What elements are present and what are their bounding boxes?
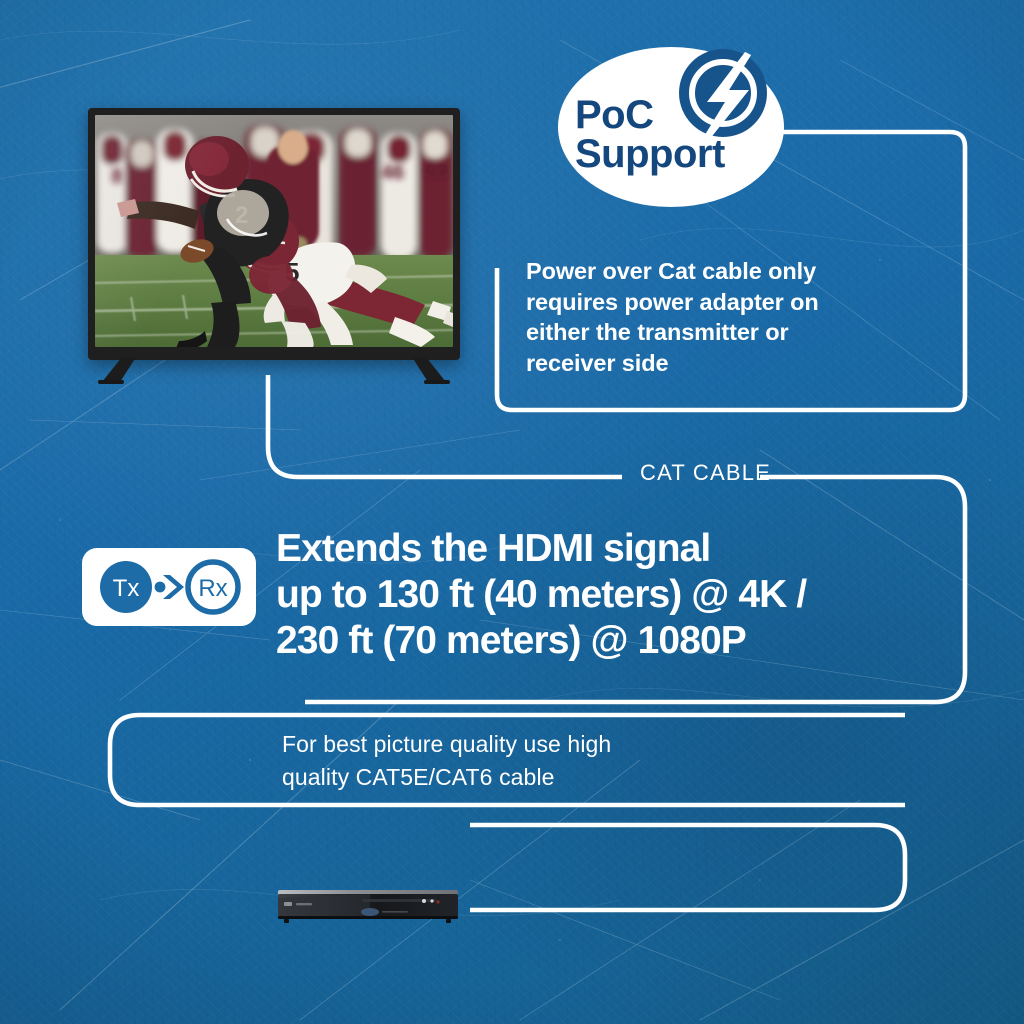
tv-bezel: 88 4668 bbox=[88, 108, 460, 360]
receiver-label: Rx bbox=[198, 575, 227, 602]
headline-line2: up to 130 ft (40 meters) @ 4K / bbox=[276, 572, 976, 618]
transmitter-label: Tx bbox=[113, 575, 140, 602]
blu-ray-player-device bbox=[278, 888, 458, 924]
football-tackle-photo: 88 4668 bbox=[95, 115, 453, 347]
poc-badge-line1: PoC bbox=[575, 96, 725, 135]
tx-rx-badge-shape: Tx Rx bbox=[82, 548, 256, 626]
television-device: 88 4668 bbox=[88, 108, 460, 383]
poc-description-line1: Power over Cat cable only bbox=[526, 256, 936, 287]
cat-cable-label: CAT CABLE bbox=[640, 460, 771, 486]
poc-support-badge: PoC Support bbox=[557, 46, 785, 208]
svg-text:68: 68 bbox=[425, 159, 449, 182]
poc-description-line3: either the transmitter or bbox=[526, 317, 936, 348]
tv-screen: 88 4668 bbox=[95, 115, 453, 347]
quality-note-line1: For best picture quality use high bbox=[282, 728, 802, 761]
tv-stand-legs bbox=[88, 356, 460, 386]
quality-note-line2: quality CAT5E/CAT6 cable bbox=[282, 761, 802, 794]
poc-description-line4: receiver side bbox=[526, 348, 936, 379]
player-uplead-line bbox=[470, 825, 905, 910]
infographic-canvas: 88 4668 bbox=[0, 0, 1024, 1024]
blu-ray-player-shape bbox=[278, 888, 458, 924]
tx-rx-badge: Tx Rx bbox=[82, 548, 256, 626]
cable-quality-note: For best picture quality use high qualit… bbox=[282, 728, 802, 793]
poc-badge-line2: Support bbox=[575, 135, 725, 174]
poc-description-text: Power over Cat cable only requires power… bbox=[526, 256, 936, 378]
poc-description-line2: requires power adapter on bbox=[526, 287, 936, 318]
poc-badge-text: PoC Support bbox=[575, 96, 725, 174]
headline-line3: 230 ft (70 meters) @ 1080P bbox=[276, 618, 976, 664]
svg-text:46: 46 bbox=[381, 161, 404, 184]
tv-downlead-line bbox=[268, 375, 622, 477]
svg-text:8: 8 bbox=[111, 165, 123, 188]
headline-line1: Extends the HDMI signal bbox=[276, 526, 976, 572]
main-headline: Extends the HDMI signal up to 130 ft (40… bbox=[276, 526, 976, 664]
